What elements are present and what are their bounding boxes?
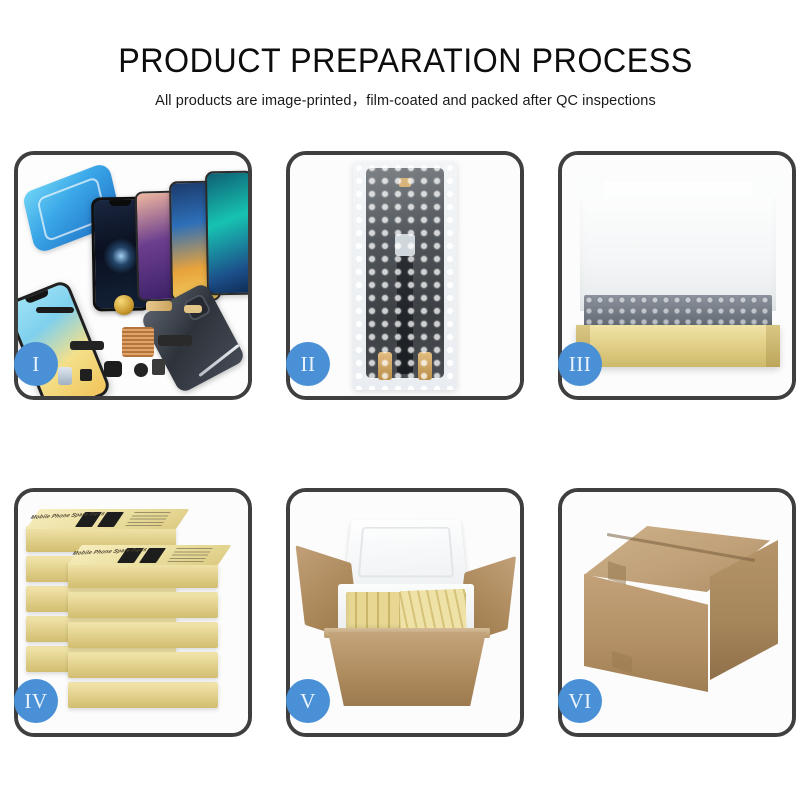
process-step-panel-3[interactable]: III [558,151,796,400]
process-steps-grid: I II III [14,151,797,737]
process-step-panel-2[interactable]: II [286,151,524,400]
gold-box [68,592,218,618]
box-bubble-contents-icon [584,295,772,329]
bubble-texture-overlay [353,162,457,390]
vibrator-motor-icon [80,369,92,381]
gold-box-top-right: Mobile Phone Spare Parts [68,562,218,588]
step-badge-1: I [14,342,58,386]
speaker-coil-icon [114,295,134,315]
gold-box-stack-icon: Mobile Phone Spare Parts Mobile Phone Sp… [24,516,246,722]
carton-front-icon [328,632,486,706]
camera-lens-icon [134,363,148,377]
step-badge-2: II [286,342,330,386]
step-badge-6: VI [558,679,602,723]
chip-icon [152,359,165,375]
page-title: PRODUCT PREPARATION PROCESS [20,44,790,78]
copper-mesh-icon [122,327,154,357]
process-step-panel-4[interactable]: Mobile Phone Spare Parts Mobile Phone Sp… [14,488,252,737]
step-badge-5: V [286,679,330,723]
page-header: PRODUCT PREPARATION PROCESS All products… [0,0,811,109]
box-white-lid-icon [580,181,776,311]
process-step-panel-5[interactable]: V [286,488,524,737]
sealed-carton-icon [578,526,778,696]
gold-box [68,682,218,708]
flex-cable-black-icon [70,341,104,350]
flex-cable-gold-icon [146,301,172,311]
battery-connector-icon [58,367,72,385]
carton-left-face [584,574,708,692]
process-step-panel-6[interactable]: VI [558,488,796,737]
bubble-wrap-package-icon [353,162,457,390]
sim-tray-icon [184,305,202,313]
foam-lid-icon [344,520,468,587]
phone-teal-icon [205,171,248,296]
page-subtitle: All products are image-printed，film-coat… [0,94,811,109]
gold-box [68,622,218,648]
process-step-panel-1[interactable]: I [14,151,252,400]
earpiece-bar-icon [36,307,74,313]
step-badge-3: III [558,342,602,386]
flex-cable-connector-icon [158,335,192,346]
kraft-box-base-icon [576,325,780,367]
camera-module-icon [104,361,122,377]
gold-box [68,652,218,678]
step-badge-4: IV [14,679,58,723]
